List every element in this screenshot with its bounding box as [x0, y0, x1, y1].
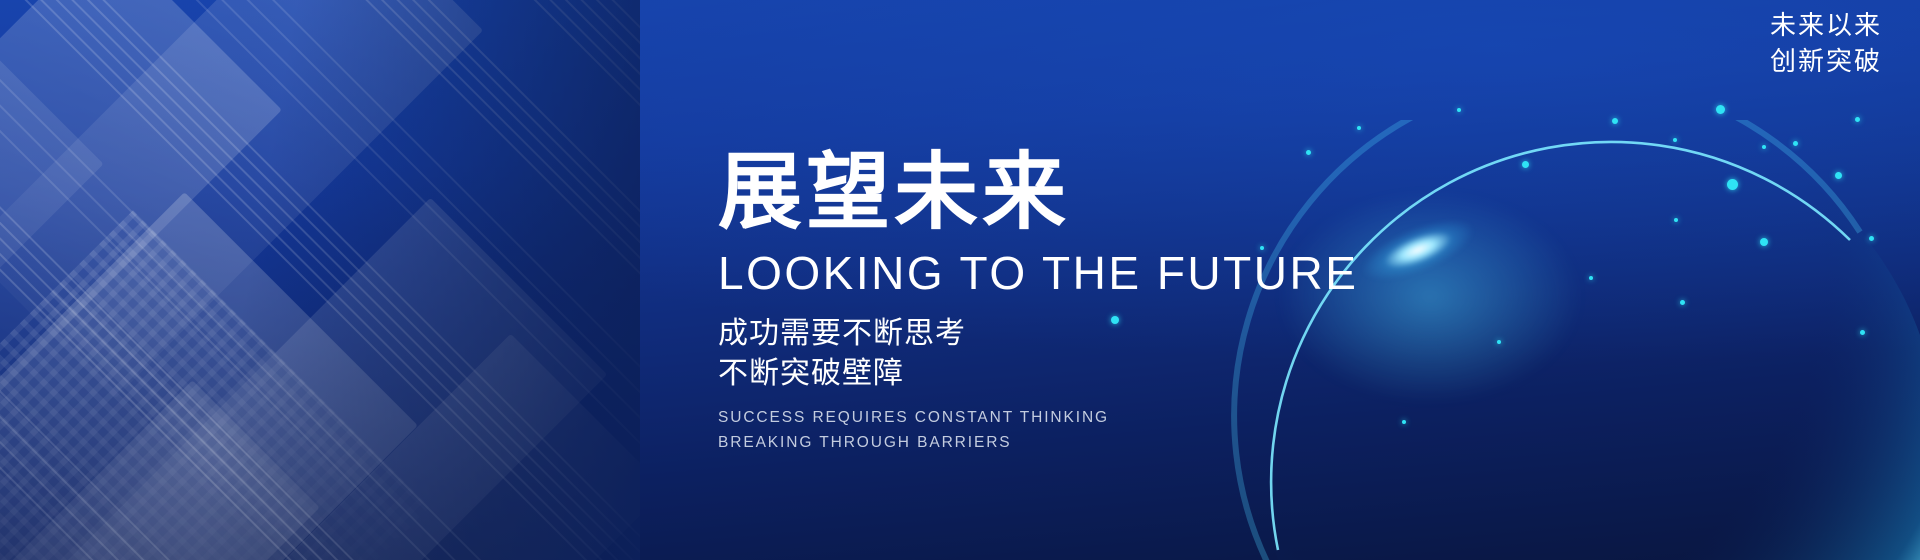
geometric-panel: [0, 192, 418, 560]
chinese-tagline-line-1: 成功需要不断思考: [718, 314, 1418, 354]
geometric-panel: [0, 0, 282, 407]
english-tagline-line-1: SUCCESS REQUIRES CONSTANT THINKING: [718, 405, 1418, 430]
diagonal-stripe-lines: [0, 0, 640, 560]
geometric-panel: [214, 334, 640, 560]
chinese-tagline-line-2: 不断突破壁障: [718, 354, 1418, 394]
english-tagline-group: SUCCESS REQUIRES CONSTANT THINKING BREAK…: [718, 405, 1418, 455]
decoration-fade-overlay: [0, 0, 640, 560]
left-geometric-decoration: [0, 0, 640, 560]
geometric-panel: [0, 0, 483, 398]
corner-slogan-line-1: 未来以来: [1770, 8, 1882, 44]
main-copy-block: 展望未来 LOOKING TO THE FUTURE 成功需要不断思考 不断突破…: [718, 150, 1418, 455]
corner-slogan: 未来以来 创新突破: [1770, 8, 1882, 80]
geometric-panel: [0, 1, 104, 418]
english-tagline-line-2: BREAKING THROUGH BARRIERS: [718, 430, 1418, 455]
hero-banner: 未来以来 创新突破 展望未来 LOOKING TO THE FUTURE 成功需…: [0, 0, 1920, 560]
page-title: 展望未来: [718, 150, 1418, 234]
page-subtitle-en: LOOKING TO THE FUTURE: [718, 250, 1418, 296]
dot-grid-pattern: [0, 210, 430, 560]
chinese-tagline-group: 成功需要不断思考 不断突破壁障: [718, 314, 1418, 393]
geometric-panel: [63, 198, 607, 560]
corner-slogan-line-2: 创新突破: [1770, 44, 1882, 80]
geometric-panel: [0, 380, 320, 560]
